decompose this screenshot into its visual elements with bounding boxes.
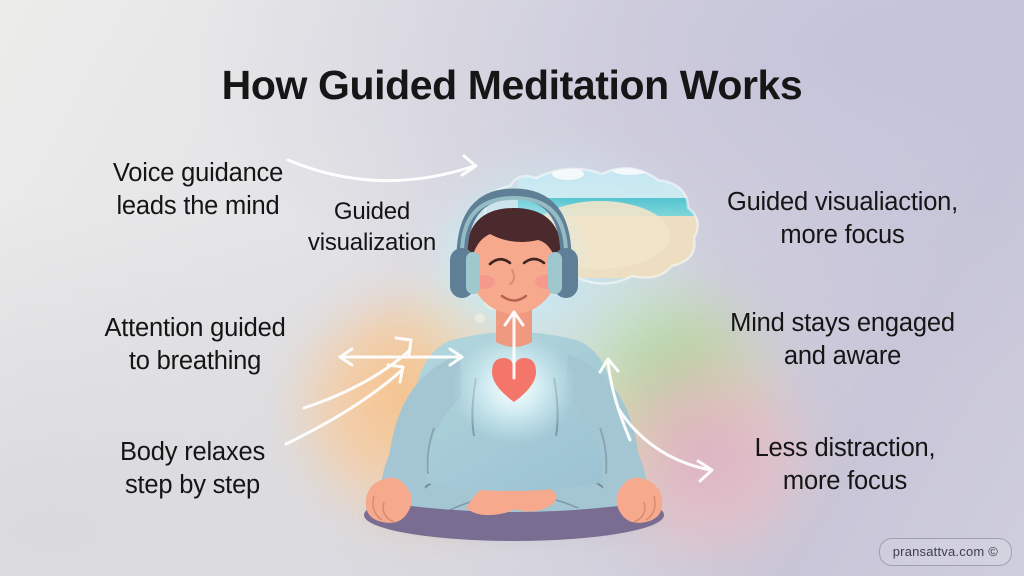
- label-attention-breathing: Attention guided to breathing: [50, 312, 340, 378]
- label-mind-engaged: Mind stays engaged and aware: [690, 307, 995, 373]
- label-body-relaxes: Body relaxes step by step: [60, 436, 325, 502]
- label-guided-visualization: Guided visualization: [272, 196, 472, 258]
- arrow-heart-to-chin: [505, 312, 523, 378]
- arrow-right-down: [618, 408, 712, 481]
- page-title: How Guided Meditation Works: [0, 62, 1024, 109]
- arrow-right-up: [600, 359, 630, 440]
- watermark: pransattva.com ©: [879, 538, 1012, 566]
- infographic-canvas: How Guided Meditation Works: [0, 0, 1024, 576]
- label-less-distraction: Less distraction, more focus: [700, 432, 990, 498]
- label-guided-visualiaction: Guided visualiaction, more focus: [690, 186, 995, 252]
